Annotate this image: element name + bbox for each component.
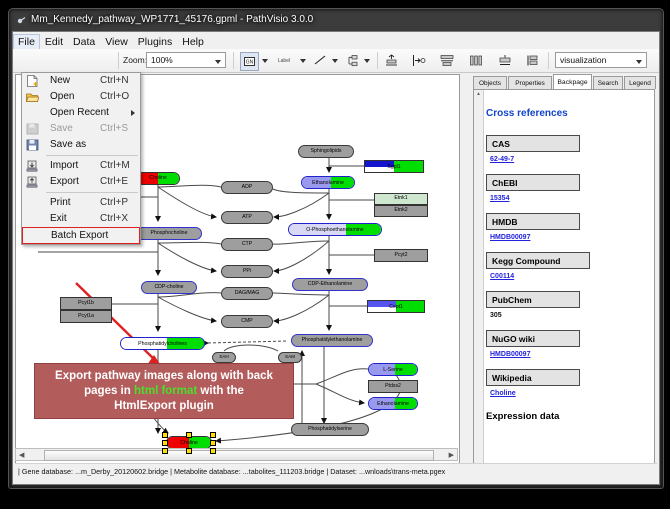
scroll-left-icon[interactable]: ◀ [19,451,24,459]
menu-item-print[interactable]: Print Ctrl+P [22,195,140,211]
annotation-line-1: Export pathway images along with back [55,369,273,384]
line-icon [314,55,327,66]
menu-item-label: Export [50,176,79,187]
interaction-icon [346,55,359,67]
application-window: Mm_Kennedy_pathway_WP1771_45176.gpml - P… [8,8,664,489]
node-label: O-Phosphoethanolamine [289,224,381,235]
xref-value-link[interactable]: HMDB00097 [490,234,654,241]
cross-references-heading: Cross references [486,108,654,119]
expression-data-heading: Expression data [486,411,654,422]
menu-item-accelerator: Ctrl+S [100,123,128,134]
xref-label: ChEBI [486,174,580,191]
tab-legend[interactable]: Legend [624,76,656,89]
menu-item-exit[interactable]: Exit Ctrl+X [22,211,140,227]
visualization-combobox[interactable]: visualization [555,52,647,68]
node-sphingolipids[interactable]: Sphingolipids [298,145,354,158]
new-file-icon [26,75,39,87]
side-panel: Objects Properties Backpage Search Legen… [461,74,657,475]
gene-etnk2[interactable]: Etnk2 [374,205,428,217]
xref-value-link[interactable]: HMDB00097 [490,351,654,358]
node-label: L-Serine [369,364,417,375]
node-label: Phosphatidylcholines [121,338,204,349]
scroll-right-icon[interactable]: ▶ [449,451,454,459]
node-phosphatidylcholines[interactable]: Phosphatidylcholines [120,337,205,350]
node-label: Ethanolamine [302,177,354,188]
node-sah[interactable]: SAH [212,352,236,363]
selection-handle-n[interactable] [186,432,192,438]
menu-item-label: Open Recent [50,107,109,118]
align-top-icon [385,54,398,67]
xref-value-link[interactable]: 62-49-7 [490,156,654,163]
menu-item-accelerator: Ctrl+O [100,91,129,102]
node-label: Choline [167,437,211,448]
node-dag-mag[interactable]: DAG/MAG [221,287,273,300]
scroll-up-icon[interactable]: ▲ [476,91,481,97]
save-icon [26,123,39,135]
selection-handle-w[interactable] [162,440,168,446]
export-icon [26,176,39,188]
menu-item-save: Save Ctrl+S [22,121,140,137]
chevron-down-icon [636,60,642,64]
stack-button[interactable] [525,52,541,69]
gene-pcyt2[interactable]: Pcyt2 [374,249,428,262]
node-cmp[interactable]: CMP [221,315,273,328]
datanode-tool-button[interactable]: GN [240,52,259,71]
tab-search[interactable]: Search [593,76,623,89]
menu-item-label: Import [50,160,78,171]
selection-handle-nw[interactable] [162,432,168,438]
svg-text:GN: GN [246,60,254,66]
zoom-combobox[interactable]: 100% [146,52,226,68]
toolbar: Zoom: 100% GN Label [13,49,659,73]
node-adp[interactable]: ADP [221,181,273,194]
backpage-content: Cross references CAS 62-49-7 ChEBI 15354… [486,90,654,422]
align-left-icon [412,54,426,67]
menu-item-accelerator: Ctrl+X [100,213,128,224]
window-client-area: FileEditDataViewPluginsHelp Zoom: 100% G… [12,31,660,485]
xref-label: NuGO wiki [486,330,580,347]
node-phosphatidylserine[interactable]: Phosphatidylserine [291,423,369,436]
selection-handle-ne[interactable] [210,432,216,438]
node-choline-top[interactable]: Choline [136,172,180,185]
menu-item-open[interactable]: Open Ctrl+O [22,89,140,105]
menu-item-import[interactable]: Import Ctrl+M [22,158,140,174]
menu-item-accelerator: Ctrl+N [100,75,129,86]
chevron-down-icon [364,59,370,63]
gene-label: Cept1 [368,301,424,312]
tab-objects[interactable]: Objects [473,76,507,89]
menu-separator-1 [46,155,138,156]
menu-item-label: New [50,75,70,86]
xref-value: 305 [490,312,654,319]
xref-hmdb: HMDB HMDB00097 [486,213,654,241]
stack-icon [526,54,540,67]
xref-label: Wikipedia [486,369,580,386]
node-ctp[interactable]: CTP [221,238,273,251]
gene-ptdss2[interactable]: Ptdss2 [368,380,418,393]
gene-label: Sgpl1 [365,161,423,172]
menu-item-export[interactable]: Export Ctrl+E [22,174,140,190]
menu-item-batch-export[interactable]: Batch Export [22,227,140,244]
status-bar: | Gene database: ...m_Derby_20120602.bri… [15,463,657,479]
common-size-icon [498,54,512,67]
node-label: Choline [137,173,179,184]
line-dropdown-button[interactable] [330,52,339,69]
gene-etnk1[interactable]: Etnk1 [374,193,428,205]
menu-item-label: Batch Export [51,230,108,241]
folder-open-icon [26,91,39,103]
menu-item-label: Save [50,123,73,134]
zoom-label: Zoom: [123,55,147,65]
xref-value-link[interactable]: 15354 [490,195,654,202]
distribute-vertical-button[interactable] [439,52,455,69]
screenshot-root: Mm_Kennedy_pathway_WP1771_45176.gpml - P… [0,0,670,509]
menu-item-accelerator: Ctrl+M [100,160,130,171]
xref-kegg-compound: Kegg Compound C00114 [486,252,654,280]
menu-item-new[interactable]: New Ctrl+N [22,73,140,89]
xref-label: PubChem [486,291,580,308]
scrollbar-thumb[interactable] [44,450,434,461]
node-cdp-ethanolamine[interactable]: CDP-Ethanolamine [292,278,368,291]
chevron-down-icon [215,60,221,64]
node-ethanolamine-bottom[interactable]: Ethanolamine [368,397,418,410]
tab-backpage[interactable]: Backpage [553,74,592,89]
menu-bar: FileEditDataViewPluginsHelp [13,32,659,50]
import-icon [26,160,39,172]
node-atp[interactable]: ATP [221,211,273,224]
node-label: Ethanolamine [369,398,417,409]
node-ppi[interactable]: PPi [221,265,273,278]
node-cdp-choline[interactable]: CDP-choline [141,281,197,294]
chevron-down-icon [300,59,306,63]
annotation-line-2-pre: pages in [84,385,134,397]
distribute-horizontal-icon [469,54,483,67]
xref-nugo-wiki: NuGO wiki HMDB00097 [486,330,654,358]
menu-item-accelerator: Ctrl+P [100,197,128,208]
xref-label: HMDB [486,213,580,230]
selection-handle-s[interactable] [186,448,192,454]
backpage-panel: ▲ ▼ Cross references CAS 62-49-7 ChEBI 1… [473,89,655,474]
xref-label: Kegg Compound [486,252,590,269]
chevron-down-icon [262,59,268,63]
node-l-serine[interactable]: L-Serine [368,363,418,376]
gene-cept1[interactable]: Cept1 [367,300,425,313]
node-phosphocholine[interactable]: Phosphocholine [136,227,202,240]
chevron-down-icon [332,59,338,63]
align-top-button[interactable] [384,52,399,69]
gene-sgpl1[interactable]: Sgpl1 [364,160,424,173]
annotation-highlight: html format [134,385,197,397]
zoom-value: 100% [151,55,173,65]
xref-value-link[interactable]: C00114 [490,273,654,280]
node-sam[interactable]: SAM [278,352,302,363]
xref-pubchem: PubChem 305 [486,291,654,319]
annotation-line-3: HtmlExport plugin [114,399,214,414]
xref-chebi: ChEBI 15354 [486,174,654,202]
interaction-tool-button[interactable] [345,52,360,69]
annotation-line-2: pages in html format with the [84,384,244,399]
selection-handle-se[interactable] [210,448,216,454]
node-o-phosphoethanolamine[interactable]: O-Phosphoethanolamine [288,223,382,236]
xref-cas: CAS 62-49-7 [486,135,654,163]
menu-separator-2 [46,192,138,193]
tab-properties[interactable]: Properties [508,76,552,89]
menu-item-label: Exit [50,213,67,224]
menu-item-label: Print [50,197,71,208]
distribute-horizontal-button[interactable] [468,52,484,69]
visualization-value: visualization [560,55,606,65]
selection-handle-sw[interactable] [162,448,168,454]
file-menu-dropdown: New Ctrl+N Open Ctrl+O Open Recent [21,72,141,245]
align-left-button[interactable] [411,52,427,69]
datanode-dropdown-button[interactable] [260,52,269,69]
xref-value-link[interactable]: Choline [490,390,654,397]
node-phosphatidylethanolamine[interactable]: Phosphatidylethanolamine [291,334,373,347]
annotation-line-2-post: with the [197,385,244,397]
xref-label: CAS [486,135,580,152]
window-title: Mm_Kennedy_pathway_WP1771_45176.gpml - P… [31,9,313,31]
menu-item-label: Save as [50,139,86,150]
menu-item-open-recent[interactable]: Open Recent [22,105,140,121]
gene-pcyt1a[interactable]: Pcyt1a [60,310,112,323]
common-size-button[interactable] [497,52,513,69]
menu-item-label: Open [50,91,74,102]
chevron-right-icon [131,110,135,116]
title-bar: Mm_Kennedy_pathway_WP1771_45176.gpml - P… [9,9,663,31]
annotation-callout: Export pathway images along with back pa… [34,363,294,419]
xref-wikipedia: Wikipedia Choline [486,369,654,397]
menu-item-accelerator: Ctrl+E [100,176,128,187]
interaction-dropdown-button[interactable] [362,52,371,69]
canvas-horizontal-scrollbar[interactable]: ◀ ▶ [15,448,458,461]
distribute-vertical-icon [440,54,454,67]
save-as-icon [26,139,39,151]
menu-item-save-as[interactable]: Save as [22,137,140,153]
label-tool-button[interactable]: Label [272,52,296,69]
line-tool-button[interactable] [313,52,328,69]
backpage-scrollbar[interactable]: ▲ ▼ [474,90,484,473]
selection-handle-e[interactable] [210,440,216,446]
gene-pcyt1b[interactable]: Pcyt1b [60,297,112,310]
node-ethanolamine-top[interactable]: Ethanolamine [301,176,355,189]
pathvisio-icon [17,15,27,25]
label-dropdown-button[interactable] [298,52,307,69]
